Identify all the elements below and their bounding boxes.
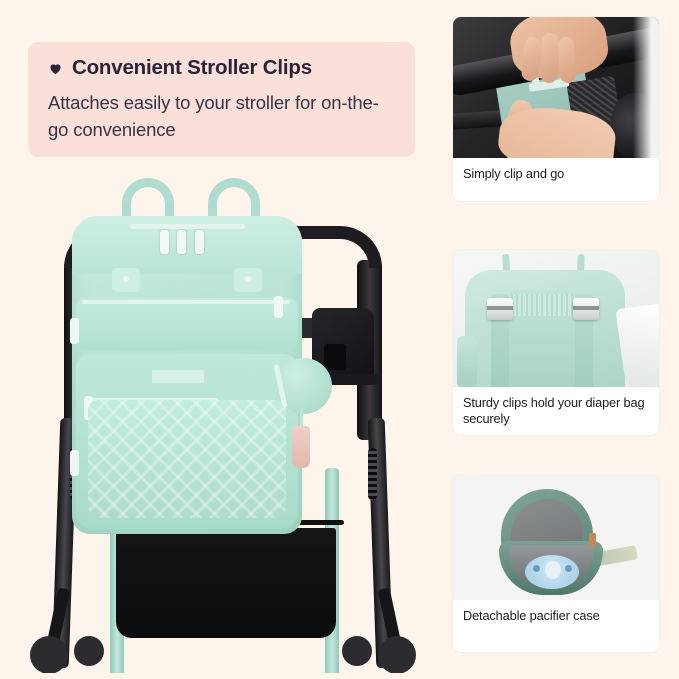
callout-subtitle: Attaches easily to your stroller for on-… — [48, 89, 395, 144]
backpack-rivet-left — [123, 276, 129, 282]
photo2-mesh-panel — [511, 294, 573, 316]
bag-back-panel-with-sturdy-clips-photo — [453, 250, 659, 387]
tassel — [292, 426, 310, 468]
hands-clipping-bag-to-stroller-bar-photo — [453, 17, 659, 158]
detail-card-3-caption: Detachable pacifier case — [453, 600, 659, 624]
backpack-middle-zipper — [82, 300, 290, 304]
detail-cards-column: Simply clip and go Sturdy clips hold you… — [453, 0, 679, 679]
stroller-wheel-front-left — [30, 636, 68, 673]
heart-icon — [48, 61, 63, 76]
backpack-logo-patch — [152, 370, 204, 383]
photo1-edge-highlight — [633, 17, 659, 158]
stroller-spring-right — [368, 448, 377, 500]
photo2-clip-left-bar — [487, 306, 513, 310]
backpack-side-zipper-top — [70, 318, 79, 344]
stroller-wheel-rear-right — [342, 636, 372, 666]
backpack-middle-zipper-pull — [274, 296, 283, 318]
callout-title: Convenient Stroller Clips — [72, 56, 312, 80]
detail-card-sturdy-clips[interactable]: Sturdy clips hold your diaper bag secure… — [453, 250, 659, 435]
photo3-zipper-pull — [589, 533, 596, 547]
left-column: Convenient Stroller Clips Attaches easil… — [0, 0, 445, 679]
photo3-pacifier-hole-left — [533, 565, 540, 572]
backpack-top-zipper — [130, 224, 245, 229]
zipper-pull-1 — [160, 230, 169, 254]
cup-holder-inner — [324, 344, 346, 370]
photo3-pacifier-nipple — [545, 561, 561, 579]
photo2-side-pocket — [457, 336, 477, 387]
detail-card-2-caption: Sturdy clips hold your diaper bag secure… — [453, 387, 659, 428]
stroller-wheel-front-right — [378, 636, 416, 673]
photo3-pacifier-hole-right — [565, 565, 572, 572]
hero-product-photo — [12, 168, 437, 673]
zipper-pull-3 — [195, 230, 204, 254]
zipper-pull-2 — [177, 230, 186, 254]
detail-card-pacifier-case[interactable]: Detachable pacifier case — [453, 475, 659, 652]
detail-card-clip-and-go[interactable]: Simply clip and go — [453, 17, 659, 201]
stroller-basket — [116, 528, 336, 638]
feature-callout-card: Convenient Stroller Clips Attaches easil… — [28, 42, 415, 157]
photo1-finger-2 — [540, 33, 559, 84]
photo1-finger-3 — [558, 37, 576, 84]
backpack-side-zipper-bottom — [70, 450, 79, 476]
backpack-rivet-right — [245, 276, 251, 282]
backpack-quilted-panel — [88, 400, 286, 518]
callout-heading-row: Convenient Stroller Clips — [48, 56, 395, 80]
detachable-round-pacifier-case-photo — [453, 475, 659, 600]
detail-card-1-caption: Simply clip and go — [453, 158, 659, 182]
photo2-clip-right-bar — [573, 306, 599, 310]
stroller-wheel-rear-left — [74, 636, 104, 666]
backpack-middle-pocket — [76, 298, 298, 350]
